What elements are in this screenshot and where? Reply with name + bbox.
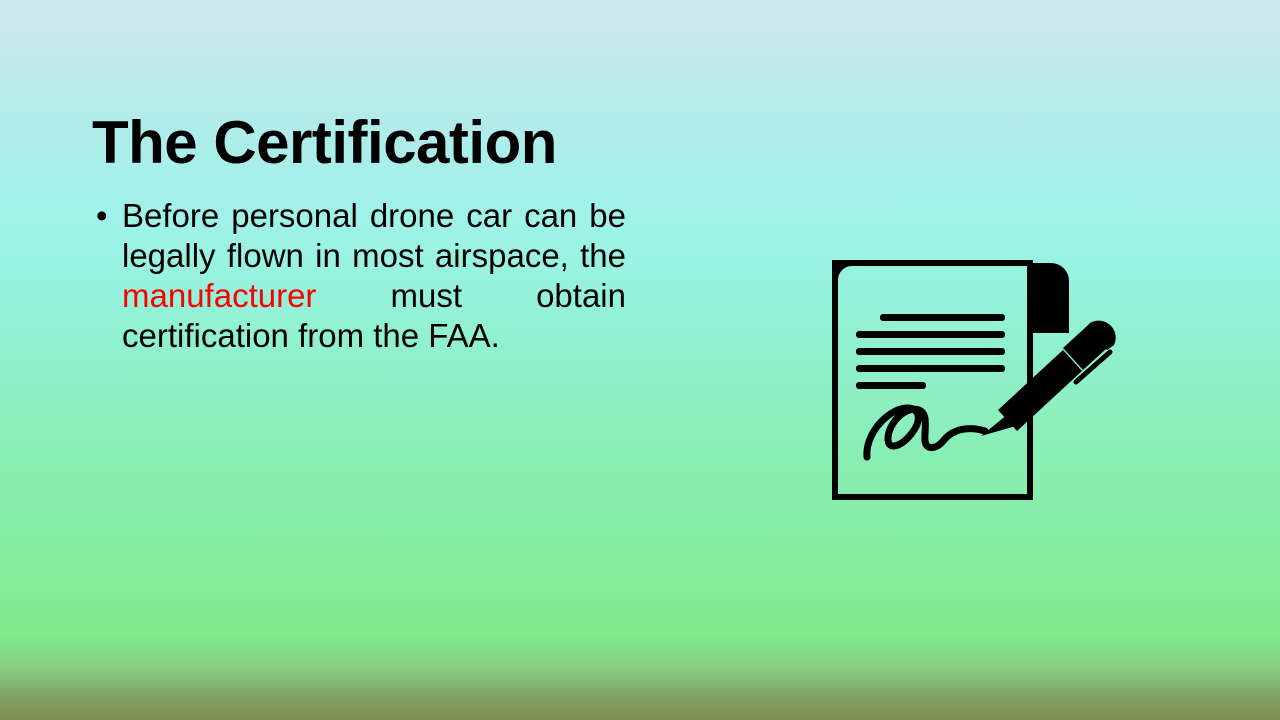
folded-corner-edge [1027,263,1033,338]
document-text-line [880,314,1005,321]
bullet-icon: • [96,196,122,236]
folded-corner-tab [1030,263,1069,333]
document-border [835,263,1030,497]
page-title: The Certification [92,111,852,174]
document-outline [835,263,1030,497]
body-content: • Before personal drone car can be legal… [96,196,626,356]
slide-canvas: The Certification • Before personal dron… [0,0,1280,720]
signed-document-illustration [818,232,1118,512]
pen-barrel-icon [998,350,1082,431]
document-text-line [856,348,1005,355]
handwritten-signature [867,408,985,457]
bullet-text: Before personal drone car can be legally… [122,196,626,356]
bullet-text-highlight: manufacturer [122,277,316,314]
document-text-line [856,365,1005,372]
bullet-text-before: Before personal drone car can be legally… [122,197,626,274]
document-text-line [856,331,1005,338]
document-text-line [856,382,926,389]
list-item: • Before personal drone car can be legal… [96,196,626,356]
